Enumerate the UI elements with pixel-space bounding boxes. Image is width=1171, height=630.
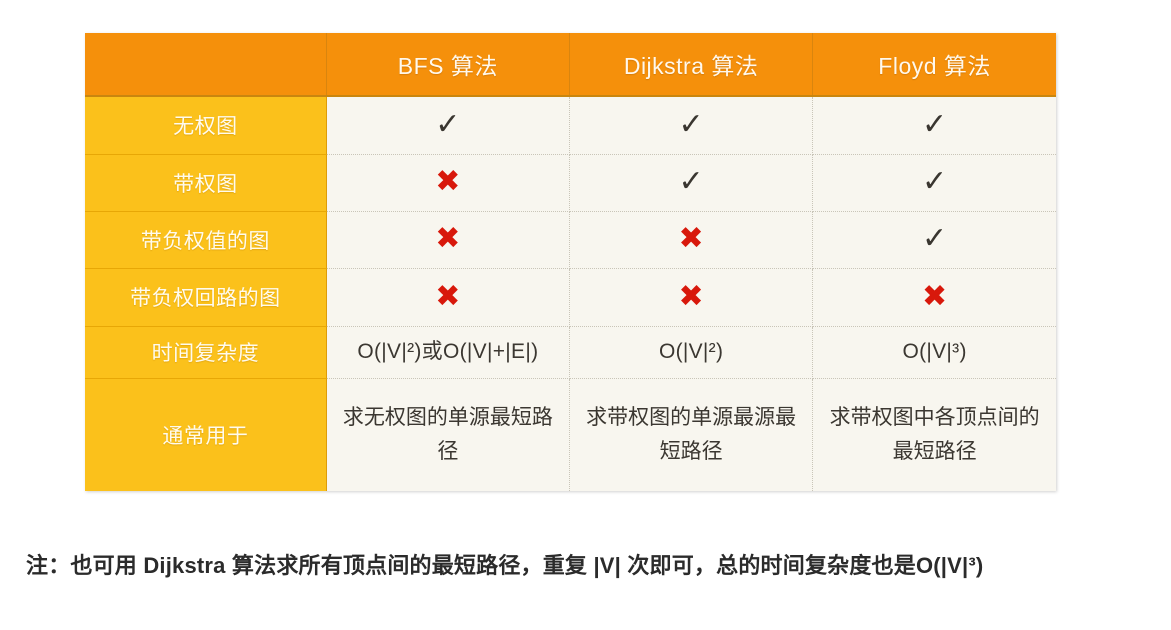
table-row: 带负权回路的图 ✖ ✖ ✖ <box>85 269 1056 326</box>
check-mark-icon: ✓ <box>922 167 947 197</box>
comparison-table: BFS 算法 Dijkstra 算法 Floyd 算法 无权图 ✓ ✓ ✓ <box>85 33 1056 491</box>
cell-dijkstra-weighted: ✓ <box>569 154 812 211</box>
table-row: 无权图 ✓ ✓ ✓ <box>85 96 1056 154</box>
cell-floyd-typical-use: 求带权图中各顶点间的最短路径 <box>813 378 1056 491</box>
cell-floyd-negative-weight: ✓ <box>813 211 1056 268</box>
cell-bfs-unweighted: ✓ <box>326 96 569 154</box>
cell-dijkstra-unweighted: ✓ <box>569 96 812 154</box>
check-mark-icon: ✓ <box>922 224 947 254</box>
table-row: 带权图 ✖ ✓ ✓ <box>85 154 1056 211</box>
table-body: 无权图 ✓ ✓ ✓ 带权图 ✖ <box>85 96 1056 491</box>
usage-description: 求无权图的单源最短路径 <box>327 401 569 468</box>
check-mark-icon: ✓ <box>922 110 947 140</box>
column-header-floyd: Floyd 算法 <box>813 33 1056 96</box>
usage-description: 求带权图中各顶点间的最短路径 <box>813 401 1056 468</box>
cell-floyd-time-complexity: O(|V|³) <box>813 326 1056 378</box>
cross-mark-icon: ✖ <box>435 224 460 254</box>
usage-description: 求带权图的单源最源最短路径 <box>570 401 812 468</box>
column-header-dijkstra: Dijkstra 算法 <box>569 33 812 96</box>
row-label-negative-cycle-graph: 带负权回路的图 <box>85 269 326 326</box>
slide-canvas: BFS 算法 Dijkstra 算法 Floyd 算法 无权图 ✓ ✓ ✓ <box>0 0 1171 630</box>
table-header-row: BFS 算法 Dijkstra 算法 Floyd 算法 <box>85 33 1056 96</box>
table-row: 带负权值的图 ✖ ✖ ✓ <box>85 211 1056 268</box>
table-corner-cell <box>85 33 326 96</box>
complexity-value: O(|V|²)或O(|V|+|E|) <box>357 340 538 363</box>
cell-bfs-negative-cycle: ✖ <box>326 269 569 326</box>
row-label-typical-use: 通常用于 <box>85 378 326 491</box>
cell-dijkstra-negative-cycle: ✖ <box>569 269 812 326</box>
footnote-text: 注：也可用 Dijkstra 算法求所有顶点间的最短路径，重复 |V| 次即可，… <box>26 548 1146 580</box>
row-label-negative-weight-graph: 带负权值的图 <box>85 211 326 268</box>
cell-dijkstra-time-complexity: O(|V|²) <box>569 326 812 378</box>
check-mark-icon: ✓ <box>435 110 460 140</box>
check-mark-icon: ✓ <box>679 110 704 140</box>
cell-floyd-negative-cycle: ✖ <box>813 269 1056 326</box>
row-label-time-complexity: 时间复杂度 <box>85 326 326 378</box>
table-header: BFS 算法 Dijkstra 算法 Floyd 算法 <box>85 33 1056 96</box>
cell-bfs-time-complexity: O(|V|²)或O(|V|+|E|) <box>326 326 569 378</box>
cell-bfs-typical-use: 求无权图的单源最短路径 <box>326 378 569 491</box>
column-header-bfs: BFS 算法 <box>326 33 569 96</box>
cell-dijkstra-negative-weight: ✖ <box>569 211 812 268</box>
table-row: 通常用于 求无权图的单源最短路径 求带权图的单源最源最短路径 求带权图中各顶点间… <box>85 378 1056 491</box>
cross-mark-icon: ✖ <box>679 224 704 254</box>
cell-dijkstra-typical-use: 求带权图的单源最源最短路径 <box>569 378 812 491</box>
row-label-unweighted-graph: 无权图 <box>85 96 326 154</box>
cross-mark-icon: ✖ <box>435 167 460 197</box>
algorithm-comparison-table: BFS 算法 Dijkstra 算法 Floyd 算法 无权图 ✓ ✓ ✓ <box>85 33 1056 491</box>
cell-floyd-unweighted: ✓ <box>813 96 1056 154</box>
cross-mark-icon: ✖ <box>435 282 460 312</box>
cross-mark-icon: ✖ <box>679 282 704 312</box>
row-label-weighted-graph: 带权图 <box>85 154 326 211</box>
complexity-value: O(|V|²) <box>659 340 723 363</box>
table-row: 时间复杂度 O(|V|²)或O(|V|+|E|) O(|V|²) O(|V|³) <box>85 326 1056 378</box>
check-mark-icon: ✓ <box>679 167 704 197</box>
cell-bfs-negative-weight: ✖ <box>326 211 569 268</box>
cell-bfs-weighted: ✖ <box>326 154 569 211</box>
cross-mark-icon: ✖ <box>922 282 947 312</box>
complexity-value: O(|V|³) <box>902 340 966 363</box>
cell-floyd-weighted: ✓ <box>813 154 1056 211</box>
